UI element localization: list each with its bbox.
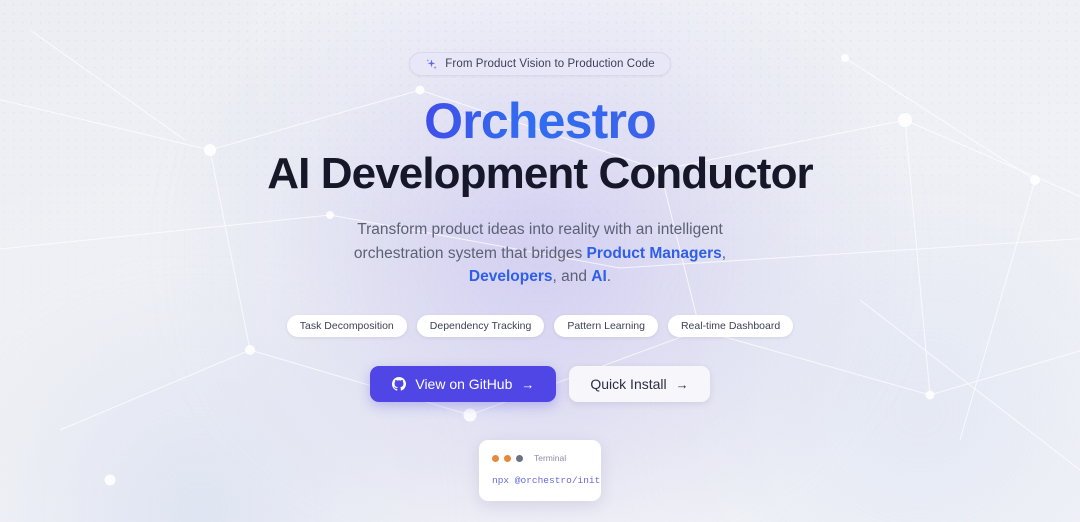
subtitle-highlight-developers: Developers bbox=[469, 268, 553, 285]
hero-badge-label: From Product Vision to Production Code bbox=[445, 58, 654, 70]
page-title-tagline: AI Development Conductor bbox=[267, 150, 813, 198]
hero-badge[interactable]: From Product Vision to Production Code bbox=[409, 52, 670, 76]
terminal-dot-minimize-icon[interactable] bbox=[504, 455, 511, 462]
hero-subtitle: Transform product ideas into reality wit… bbox=[340, 218, 740, 289]
feature-pill-pattern-learning[interactable]: Pattern Learning bbox=[554, 315, 658, 337]
arrow-right-icon: → bbox=[676, 378, 689, 391]
arrow-right-icon: → bbox=[521, 378, 534, 391]
view-on-github-label: View on GitHub bbox=[415, 376, 512, 392]
subtitle-part-2: , bbox=[722, 245, 726, 262]
terminal-dot-close-icon[interactable] bbox=[492, 455, 499, 462]
terminal-title: Terminal bbox=[534, 453, 566, 463]
subtitle-highlight-ai: AI bbox=[591, 268, 607, 285]
subtitle-highlight-product-managers: Product Managers bbox=[587, 245, 722, 262]
terminal-dot-maximize-icon[interactable] bbox=[516, 455, 523, 462]
cta-button-row: View on GitHub → Quick Install → bbox=[370, 366, 709, 402]
terminal-title-bar: Terminal bbox=[492, 453, 588, 463]
hero-section: From Product Vision to Production Code O… bbox=[0, 0, 1080, 522]
view-on-github-button[interactable]: View on GitHub → bbox=[370, 366, 556, 402]
hero-content: From Product Vision to Production Code O… bbox=[0, 0, 1080, 522]
sparkles-icon bbox=[425, 58, 438, 71]
quick-install-label: Quick Install bbox=[590, 376, 666, 392]
hero-title-block: Orchestro AI Development Conductor bbox=[267, 94, 813, 198]
feature-pill-list: Task Decomposition Dependency Tracking P… bbox=[287, 315, 793, 337]
subtitle-part-3: , and bbox=[552, 268, 591, 285]
feature-pill-realtime-dashboard[interactable]: Real-time Dashboard bbox=[668, 315, 793, 337]
terminal-command-text[interactable]: npx @orchestro/init bbox=[492, 475, 588, 486]
quick-install-button[interactable]: Quick Install → bbox=[569, 366, 709, 402]
feature-pill-dependency-tracking[interactable]: Dependency Tracking bbox=[417, 315, 545, 337]
terminal-card[interactable]: Terminal npx @orchestro/init bbox=[479, 440, 601, 501]
feature-pill-task-decomposition[interactable]: Task Decomposition bbox=[287, 315, 407, 337]
github-icon bbox=[392, 377, 406, 391]
subtitle-part-4: . bbox=[607, 268, 611, 285]
page-title-brand: Orchestro bbox=[267, 94, 813, 148]
